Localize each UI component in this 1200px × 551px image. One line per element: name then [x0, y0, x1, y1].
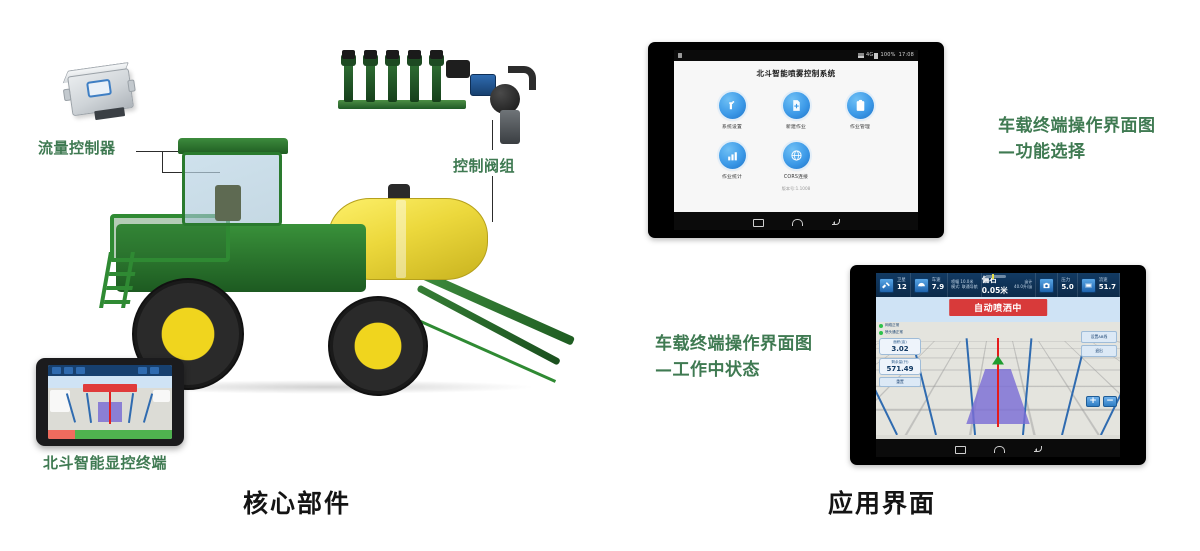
speed-icon — [914, 278, 929, 293]
home-icon[interactable] — [792, 217, 801, 226]
dosage-line2: 40.0升/亩 — [1014, 285, 1032, 290]
status-battery-label: 100% — [880, 53, 895, 58]
valve-nozzle — [432, 62, 441, 102]
menu-item-task-statistics[interactable]: 作业统计 — [700, 142, 764, 180]
operator-cab — [182, 152, 282, 226]
status-signal-label: 4G — [866, 53, 873, 58]
rear-wheel — [328, 296, 428, 396]
deviation-indicator: 偏右0.05米 — [982, 273, 1011, 297]
valve-cap — [364, 50, 377, 59]
menu-item-task-management[interactable]: 作业管理 — [828, 92, 892, 130]
field-guidance-view: 网络正常 喷头通正常 面积(亩) 3.02 剩余量(升) — [876, 297, 1120, 435]
stat-value: 571.49 — [882, 365, 918, 373]
valve-nozzle — [410, 62, 419, 102]
satellite-icon — [783, 142, 810, 169]
speed-value: 7.9 — [932, 284, 944, 291]
indicator-network: 网络正常 — [879, 323, 921, 328]
device-mount-left — [63, 88, 72, 101]
mini-centerline — [109, 389, 111, 424]
menu-item-label: CORS连接 — [784, 173, 808, 180]
indicator-label: 网络正常 — [885, 323, 899, 328]
set-ab-line-button[interactable]: 设置AB线 — [1081, 331, 1117, 343]
chart-icon — [719, 142, 746, 169]
stat-area: 面积(亩) 3.02 — [879, 338, 921, 355]
menu-item-new-task[interactable]: 新建作业 — [764, 92, 828, 130]
mini-field-view — [48, 376, 172, 430]
menu-item-label: 系统设置 — [722, 123, 742, 130]
width-line2: 模式: 联通导航 — [951, 285, 978, 290]
satellite-value: 12 — [897, 284, 907, 291]
mini-status-bar — [48, 365, 172, 376]
flow-controller-device-image — [62, 61, 141, 128]
home-icon[interactable] — [994, 444, 1003, 453]
flow-value: 51.7 — [1099, 284, 1116, 291]
device-mount-right — [127, 79, 136, 92]
zoom-out-button[interactable]: − — [1103, 396, 1117, 407]
pressure-value: 5.0 — [1061, 284, 1073, 291]
working-screen: 卫星 12 车速 7.9 — [876, 273, 1120, 457]
flow-icon — [1081, 278, 1096, 293]
android-nav-bar — [876, 439, 1120, 457]
application-ui-panel: 4G 100% 17:08 北斗智能喷雾控制系统 系统设置 — [600, 0, 1200, 551]
stat-remaining: 剩余量(升) 571.49 — [879, 358, 921, 375]
center-track-line — [997, 338, 999, 426]
spray-boom — [418, 268, 578, 358]
signal-icon — [858, 53, 864, 58]
notification-icon — [678, 53, 682, 58]
menu-item-label: 新建作业 — [786, 123, 806, 130]
recent-apps-icon[interactable] — [753, 217, 762, 226]
valve-nozzle — [366, 62, 375, 102]
device-badge-icon — [86, 79, 112, 98]
zoom-controls: + − — [1086, 396, 1117, 407]
camera-icon — [1039, 278, 1054, 293]
core-components-panel: 流量控制器 控制阀组 — [0, 0, 600, 551]
reset-button[interactable]: 重置 — [879, 377, 921, 387]
menu-screen: 4G 100% 17:08 北斗智能喷雾控制系统 系统设置 — [674, 50, 918, 230]
status-dot-icon — [879, 324, 883, 328]
version-label: 版本号:1.1008 — [674, 186, 918, 192]
app-title: 北斗智能喷雾控制系统 — [674, 61, 918, 79]
work-annotation-line2: —工作中状态 — [655, 358, 813, 384]
pressure-status: 压力 5.0 — [1058, 273, 1077, 297]
terminal-screen-preview — [48, 365, 172, 439]
menu-annotation-line2: —功能选择 — [998, 140, 1156, 166]
valve-manifold-rail — [338, 100, 466, 109]
exit-button[interactable]: 退出 — [1081, 345, 1117, 357]
work-annotation: 车载终端操作界面图 —工作中状态 — [655, 332, 813, 383]
beidou-display-terminal-device — [36, 358, 184, 446]
menu-annotation: 车载终端操作界面图 —功能选择 — [998, 114, 1156, 165]
action-right-panel: 设置AB线 退出 — [1081, 329, 1117, 357]
valve-controller-housing — [446, 60, 470, 78]
slide-root: 流量控制器 控制阀组 — [0, 0, 1200, 551]
stat-value: 3.02 — [882, 345, 918, 353]
back-icon[interactable] — [1033, 444, 1042, 453]
width-info: 喷幅 10.0米 模式: 联通导航 — [948, 273, 982, 297]
menu-annotation-line1: 车载终端操作界面图 — [998, 114, 1156, 140]
deviation-marker — [992, 274, 994, 279]
work-top-status-bar: 卫星 12 车速 7.9 — [876, 273, 1120, 297]
valve-cap — [342, 50, 355, 59]
recent-apps-icon[interactable] — [955, 444, 964, 453]
spraying-alert-banner: 自动喷洒中 — [949, 299, 1047, 316]
settings-valve-icon — [719, 92, 746, 119]
boom-truss — [418, 276, 575, 383]
zoom-in-button[interactable]: + — [1086, 396, 1100, 407]
app-section-title: 应用界面 — [828, 484, 936, 520]
menu-item-label: 作业管理 — [850, 123, 870, 130]
vehicle-marker-icon — [992, 356, 1004, 365]
android-status-bar: 4G 100% 17:08 — [674, 50, 918, 61]
camera-button[interactable] — [1036, 273, 1058, 297]
mini-mode-bar — [48, 430, 172, 439]
new-task-icon — [783, 92, 810, 119]
indicator-nozzle: 喷头通正常 — [879, 330, 921, 335]
back-icon[interactable] — [831, 217, 840, 226]
status-left-panel: 网络正常 喷头通正常 面积(亩) 3.02 剩余量(升) — [879, 323, 921, 387]
dosage-info: 亩计 40.0升/亩 — [1011, 273, 1036, 297]
battery-icon — [874, 53, 878, 59]
mini-right-panel — [153, 390, 170, 402]
terminal-label: 北斗智能显控终端 — [43, 452, 167, 473]
valve-cap — [430, 50, 443, 59]
valve-cap — [386, 50, 399, 59]
clipboard-icon — [847, 92, 874, 119]
valve-cap — [408, 50, 421, 59]
menu-item-system-settings[interactable]: 系统设置 — [700, 92, 764, 130]
work-screen-body: 卫星 12 车速 7.9 — [876, 273, 1120, 457]
tablet-device-working: 卫星 12 车速 7.9 — [850, 265, 1146, 465]
core-section-title: 核心部件 — [243, 484, 351, 520]
menu-item-label: 作业统计 — [722, 173, 742, 180]
valve-elbow-pipe — [508, 66, 536, 90]
valve-nozzle — [344, 62, 353, 102]
tank-filler-cap — [388, 184, 410, 198]
menu-item-cors-connection[interactable]: CORS连接 — [764, 142, 828, 180]
access-ladder — [99, 252, 135, 308]
satellite-icon — [879, 278, 894, 293]
menu-grid: 系统设置 新建作业 作业管理 — [674, 79, 918, 180]
status-time-label: 17:08 — [899, 53, 914, 58]
menu-body: 北斗智能喷雾控制系统 系统设置 新建作业 — [674, 61, 918, 212]
indicator-label: 喷头通正常 — [885, 330, 903, 335]
android-nav-bar — [674, 212, 918, 230]
status-dot-icon — [879, 331, 883, 335]
speed-status: 车速 7.9 — [911, 273, 948, 297]
mini-alert-banner — [83, 384, 138, 392]
work-annotation-line1: 车载终端操作界面图 — [655, 332, 813, 358]
valve-nozzle — [388, 62, 397, 102]
tank-strap — [396, 200, 406, 278]
tablet-device-menu: 4G 100% 17:08 北斗智能喷雾控制系统 系统设置 — [648, 42, 944, 238]
flow-status: 流速 51.7 — [1078, 273, 1120, 297]
satellite-status: 卫星 12 — [876, 273, 911, 297]
deviation-bar — [986, 275, 1006, 278]
